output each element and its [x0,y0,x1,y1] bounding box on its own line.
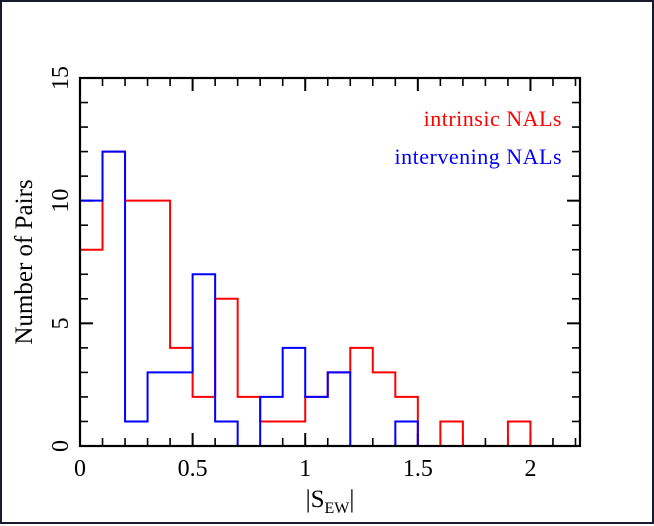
x-tick-label: 1 [299,456,311,482]
figure-panel: 00.511.52051015 Number of Pairs |SEW| in… [0,0,654,524]
y-tick-label: 10 [48,189,74,213]
x-tick-label: 1.5 [403,456,433,482]
x-axis-title: |SEW| [306,486,355,517]
x-tick-label: 2 [524,456,536,482]
y-tick-label: 15 [48,66,74,90]
plot-frame [80,78,580,446]
histogram-series [80,152,530,446]
histogram-plot: 00.511.52051015 Number of Pairs |SEW| in… [2,2,654,526]
legend-item-intrinsic: intrinsic NALs [424,106,562,131]
x-tick-label: 0 [74,456,86,482]
legend-item-intervening: intervening NALs [395,144,562,169]
x-axis-title-tail: | [349,486,354,513]
x-axis-title-sub: EW [325,500,351,517]
y-tick-label: 5 [48,317,74,329]
x-axis-title-main: |S [306,486,325,513]
y-tick-label: 0 [48,440,74,452]
axis-ticks [80,78,580,446]
x-tick-label: 0.5 [178,456,208,482]
y-axis-title: Number of Pairs [11,179,38,344]
